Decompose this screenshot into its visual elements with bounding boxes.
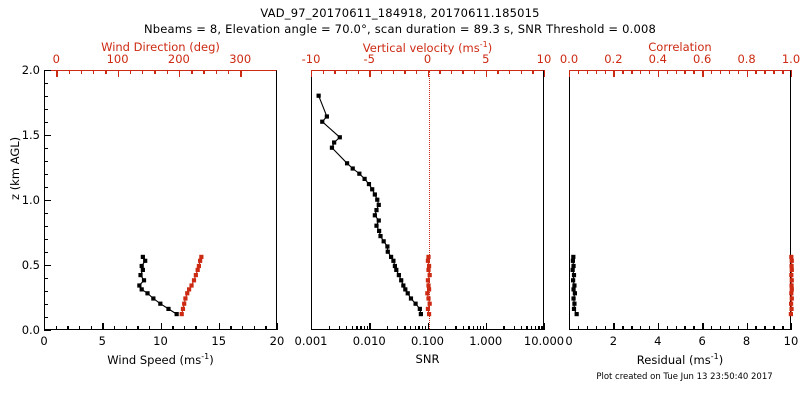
data-point-marker [426,259,430,263]
y-axis-tick [44,252,48,253]
data-point-marker [196,268,200,272]
bottom-axis-tick [483,326,484,330]
y-axis-tick [44,317,48,318]
data-point-marker [330,146,334,150]
data-point-marker [345,161,349,165]
top-axis-tick [684,70,685,74]
bottom-axis-tick [356,326,357,330]
bottom-axis-tick [631,326,632,330]
data-point-marker [789,302,793,306]
data-point-marker [571,296,575,300]
data-point-marker [409,296,413,300]
bottom-axis-tick [468,326,469,330]
top-axis-tick [462,70,463,74]
y-axis-tick [44,304,48,305]
top-axis-tick [613,70,614,77]
data-point-marker [142,278,146,282]
data-point-marker [790,278,794,282]
data-point-marker [571,264,575,268]
top-axis-tick [676,70,677,74]
y-axis-tick [44,96,48,97]
data-point-marker [572,302,576,306]
bottom-axis-tick [649,326,650,330]
top-axis-tick [702,70,703,77]
bottom-tick-label: 8 [743,334,750,348]
data-point-marker [401,283,405,287]
data-point-marker [426,307,430,311]
bottom-axis-tick [473,326,474,330]
bottom-tick-label: 0.001 [295,334,328,348]
top-axis-tick [640,70,641,74]
data-point-marker [571,278,575,282]
bottom-tick-label: 20 [270,334,285,348]
bottom-tick-label: 0.010 [353,334,386,348]
top-tick-label: 0.8 [737,52,755,66]
bottom-tick-label: 5 [99,334,106,348]
data-point-marker [426,283,430,287]
data-point-marker [399,278,403,282]
top-axis-tick [509,70,510,74]
bottom-axis-tick [387,326,388,330]
top-axis-tick [791,70,792,77]
data-point-marker [373,213,377,217]
top-axis-tick [142,70,143,74]
top-axis-tick [369,70,370,77]
bottom-axis-tick [455,326,456,330]
data-point-marker [789,255,793,259]
top-axis-tick [596,70,597,74]
top-axis-label: Wind Direction (deg) [44,40,277,54]
top-axis-tick [755,70,756,74]
bottom-axis-tick [693,326,694,330]
bottom-axis-tick [410,326,411,330]
top-axis-tick [497,70,498,74]
top-axis-tick [404,70,405,74]
data-point-marker [158,302,162,306]
bottom-axis-tick [764,326,765,330]
top-axis-tick [578,70,579,74]
top-axis-tick [416,70,417,74]
data-point-marker [138,273,142,277]
top-axis-tick [346,70,347,74]
bottom-axis-label: Wind Speed (ms-1) [44,352,277,367]
data-point-marker [140,264,144,268]
y-axis-tick [44,200,51,201]
bottom-axis-tick [352,326,353,330]
top-axis-tick [56,70,57,77]
top-axis-tick [474,70,475,74]
bottom-axis-tick [544,323,545,330]
data-point-marker [357,172,361,176]
top-axis-tick [747,70,748,77]
bottom-axis-tick [404,326,405,330]
panel-snr-vertical-velocity[interactable] [311,70,544,330]
bottom-axis-tick [747,323,748,330]
bottom-axis-tick [425,326,426,330]
top-axis-tick [358,70,359,74]
data-point-marker [426,278,430,282]
bottom-axis-tick [738,326,739,330]
bottom-axis-tick [230,326,231,330]
y-tick-label: 2.0 [22,63,40,77]
data-point-marker [185,291,189,295]
top-tick-label: 0.2 [604,52,622,66]
data-point-marker [374,224,378,228]
bottom-axis-tick [369,323,370,330]
y-axis-tick [44,265,51,266]
data-point-marker [386,250,390,254]
bottom-axis-tick [445,326,446,330]
y-axis-tick [44,83,48,84]
data-point-marker [789,312,793,316]
bottom-tick-label: 1.000 [469,334,502,348]
data-point-marker [406,291,410,295]
data-point-marker [320,120,324,124]
bottom-axis-tick [219,323,220,330]
top-axis-tick [130,70,131,74]
data-point-marker [790,268,794,272]
bottom-tick-label: 15 [211,334,226,348]
bottom-axis-tick [360,326,361,330]
y-axis-tick [44,187,48,188]
top-tick-label: 100 [107,52,129,66]
data-point-marker [377,203,381,207]
data-point-marker [571,287,575,291]
y-axis-tick [44,174,48,175]
data-point-marker [198,259,202,263]
top-axis-tick [381,70,382,74]
top-axis-tick [738,70,739,74]
data-point-marker [181,307,185,311]
top-tick-label: 0 [53,52,60,66]
bottom-axis-tick [503,326,504,330]
y-axis-tick [44,213,48,214]
top-axis-tick [228,70,229,74]
y-tick-label: 1.0 [22,193,40,207]
y-axis-tick [44,226,48,227]
data-point-marker [182,302,186,306]
top-tick-label: 200 [168,52,190,66]
top-axis-tick [311,70,312,77]
bottom-axis-tick [56,326,57,330]
bottom-axis-tick [729,326,730,330]
top-axis-tick [439,70,440,74]
bottom-axis-tick [622,326,623,330]
data-point-marker [427,287,431,291]
data-point-marker [413,302,417,306]
top-axis-label: Correlation [569,40,791,54]
data-point-marker [317,94,321,98]
y-axis-tick [44,161,48,162]
bottom-axis-tick [791,323,792,330]
bottom-axis-tick [415,326,416,330]
top-axis-tick [631,70,632,74]
plot-footer-timestamp: Plot created on Tue Jun 13 23:50:40 2017 [569,372,800,382]
bottom-tick-label: 4 [654,334,661,348]
data-point-marker [187,287,191,291]
bottom-axis-tick [161,323,162,330]
series-line [319,96,421,314]
top-axis-tick [191,70,192,74]
data-point-marker [325,114,329,118]
bottom-axis-tick [684,326,685,330]
bottom-axis-tick [67,326,68,330]
data-point-marker [790,287,794,291]
data-point-marker [143,259,147,263]
data-point-marker [377,218,381,222]
data-point-marker [141,255,145,259]
data-point-marker [363,177,367,181]
top-axis-tick [544,70,545,77]
data-point-marker [427,312,431,316]
y-axis-title: z (km AGL) [8,137,22,200]
bottom-axis-tick [477,326,478,330]
bottom-axis-tick [172,326,173,330]
data-point-marker [575,312,579,316]
bottom-axis-tick [242,326,243,330]
data-point-marker [373,192,377,196]
data-point-marker [426,255,430,259]
bottom-tick-label: 2 [610,334,617,348]
data-point-marker [378,234,382,238]
data-point-marker [426,268,430,272]
data-point-marker [428,273,432,277]
data-point-marker [189,283,193,287]
data-point-marker [393,264,397,268]
data-point-marker [573,291,577,295]
top-tick-label: 0.4 [649,52,667,66]
panel-residual-correlation[interactable] [569,70,791,330]
bottom-axis-tick [711,326,712,330]
data-point-marker [790,259,794,263]
bottom-axis-tick [755,326,756,330]
top-tick-label: 0.0 [560,52,578,66]
data-point-marker [789,307,793,311]
data-point-marker [199,255,203,259]
top-axis-tick [118,70,119,77]
bottom-axis-tick [613,323,614,330]
y-axis-tick [44,278,48,279]
data-point-marker [375,198,379,202]
bottom-axis-tick [346,326,347,330]
y-tick-label: 1.5 [22,128,40,142]
series-layer [570,71,792,331]
bottom-tick-label: 0 [40,334,47,348]
bottom-axis-tick [422,326,423,330]
top-axis-tick [179,70,180,77]
data-point-marker [351,166,355,170]
bottom-axis-tick [149,326,150,330]
data-point-marker [790,296,794,300]
data-point-marker [425,291,429,295]
bottom-tick-label: 0 [565,334,572,348]
top-axis-tick [720,70,721,74]
bottom-axis-tick [418,326,419,330]
data-point-marker [789,283,793,287]
bottom-axis-tick [676,326,677,330]
top-axis-tick [105,70,106,74]
data-point-marker [166,307,170,311]
bottom-axis-tick [254,326,255,330]
y-axis-tick [44,122,48,123]
top-axis-tick [782,70,783,74]
bottom-axis-tick [79,326,80,330]
top-tick-label: 0.6 [693,52,711,66]
bottom-axis-tick [538,326,539,330]
bottom-axis-tick [526,326,527,330]
series-layer [312,71,545,331]
data-point-marker [572,283,576,287]
bottom-axis-tick [329,326,330,330]
data-point-marker [332,140,336,144]
bottom-axis-tick [773,326,774,330]
data-point-marker [426,296,430,300]
data-point-marker [137,283,141,287]
bottom-axis-tick [596,326,597,330]
data-point-marker [374,208,378,212]
bottom-axis-tick [578,326,579,330]
data-point-marker [571,259,575,263]
series-layer [45,71,278,331]
y-tick-label: 0.0 [22,323,40,337]
bottom-tick-label: 0.100 [411,334,444,348]
bottom-axis-tick [265,326,266,330]
data-point-marker [418,307,422,311]
top-axis-tick [93,70,94,74]
bottom-axis-tick [397,326,398,330]
top-axis-tick [334,70,335,74]
data-point-marker [385,244,389,248]
plot-subtitle: Nbeams = 8, Elevation angle = 70.0°, sca… [0,22,800,36]
data-point-marker [397,273,401,277]
bottom-axis-tick [702,323,703,330]
top-axis-tick [486,70,487,77]
top-axis-tick [667,70,668,74]
y-axis-tick [44,109,48,110]
top-axis-tick [240,70,241,77]
series-line [139,257,176,314]
bottom-axis-tick [658,323,659,330]
bottom-axis-tick [91,326,92,330]
data-point-marker [419,312,423,316]
data-point-marker [180,312,184,316]
y-axis-tick [44,148,48,149]
top-axis-tick [649,70,650,74]
top-axis-tick [69,70,70,74]
data-point-marker [789,273,793,277]
top-axis-tick [693,70,694,74]
data-point-marker [194,273,198,277]
bottom-axis-tick [114,326,115,330]
data-point-marker [370,187,374,191]
bottom-axis-tick [569,323,570,330]
bottom-axis-tick [541,326,542,330]
data-point-marker [145,291,149,295]
bottom-axis-tick [207,326,208,330]
panel-wind-profile[interactable] [44,70,277,330]
y-axis-tick [44,135,51,136]
bottom-axis-tick [126,326,127,330]
top-axis-tick [729,70,730,74]
bottom-axis-tick [514,326,515,330]
bottom-tick-label: 10 [784,334,799,348]
bottom-axis-tick [137,326,138,330]
top-axis-tick [154,70,155,74]
top-axis-tick [203,70,204,74]
y-tick-label: 0.5 [22,258,40,272]
bottom-axis-tick [364,326,365,330]
bottom-axis-tick [311,323,312,330]
bottom-axis-tick [102,323,103,330]
bottom-axis-tick [521,326,522,330]
top-axis-tick [521,70,522,74]
bottom-axis-tick [587,326,588,330]
top-axis-tick [587,70,588,74]
data-point-marker [403,287,407,291]
data-point-marker [789,264,793,268]
top-axis-tick [393,70,394,74]
bottom-axis-tick [428,323,429,330]
data-point-marker [394,268,398,272]
top-axis-label: Vertical velocity (ms-1) [311,40,544,55]
data-point-marker [197,264,201,268]
bottom-axis-label: Residual (ms-1) [569,352,791,367]
bottom-axis-tick [367,326,368,330]
bottom-axis-tick [486,323,487,330]
bottom-axis-tick [605,326,606,330]
top-axis-tick [428,70,429,77]
data-point-marker [789,291,793,295]
bottom-axis-tick [184,326,185,330]
bottom-axis-tick [667,326,668,330]
data-point-marker [572,307,576,311]
plot-title: VAD_97_20170611_184918, 20170611.185015 [0,6,800,20]
data-point-marker [183,296,187,300]
top-axis-tick [532,70,533,74]
data-point-marker [389,255,393,259]
data-point-marker [571,268,575,272]
bottom-axis-tick [339,326,340,330]
data-point-marker [391,259,395,263]
top-axis-tick [451,70,452,74]
bottom-axis-tick [463,326,464,330]
y-axis-tick [44,291,48,292]
top-axis-tick [711,70,712,74]
top-axis-tick [773,70,774,74]
data-point-marker [428,302,432,306]
top-axis-tick [605,70,606,74]
bottom-tick-label: 10.000 [524,334,564,348]
data-point-marker [377,229,381,233]
bottom-axis-tick [277,323,278,330]
data-point-marker [140,287,144,291]
data-point-marker [382,239,386,243]
bottom-axis-tick [720,326,721,330]
top-axis-tick [216,70,217,74]
y-axis-tick [44,239,48,240]
data-point-marker [338,135,342,139]
bottom-axis-tick [640,326,641,330]
top-axis-tick [167,70,168,74]
bottom-axis-label: SNR [311,352,544,366]
top-tick-label: 1.0 [782,52,800,66]
top-tick-label: 300 [229,52,251,66]
top-axis-tick [323,70,324,74]
top-axis-tick [622,70,623,74]
bottom-axis-tick [44,323,45,330]
data-point-marker [427,264,431,268]
y-axis-tick [44,330,51,331]
